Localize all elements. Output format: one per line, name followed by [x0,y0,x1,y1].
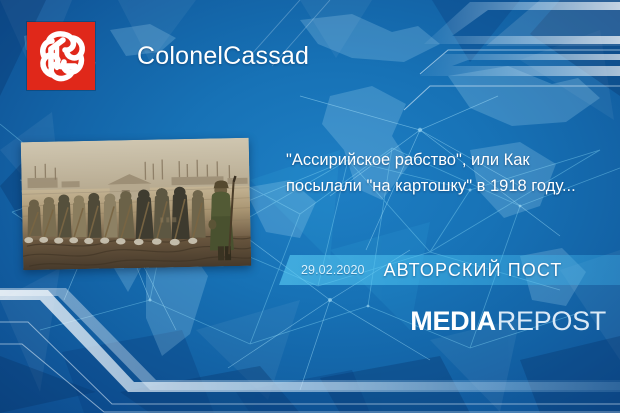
thumbnail-illustration [21,138,252,271]
colonelcassad-logo[interactable] [27,22,95,90]
post-kind-label: АВТОРСКИЙ ПОСТ [384,260,563,281]
brand-header: ColonelCassad [27,22,309,90]
brand-name: ColonelCassad [137,42,309,71]
post-meta-band: 29.02.2020 АВТОРСКИЙ ПОСТ [279,255,620,285]
watermark-media: MEDIA [410,306,496,337]
article-thumbnail[interactable] [21,138,252,271]
article-title[interactable]: "Ассирийское рабство", или Как посылали … [286,148,592,199]
interlocking-chain-knot-icon [27,22,95,90]
post-date: 29.02.2020 [301,263,365,277]
mediarepost-watermark: MEDIA REPOST [410,306,606,337]
watermark-repost: REPOST [497,306,606,337]
article-promo-card: ColonelCassad [0,0,620,413]
